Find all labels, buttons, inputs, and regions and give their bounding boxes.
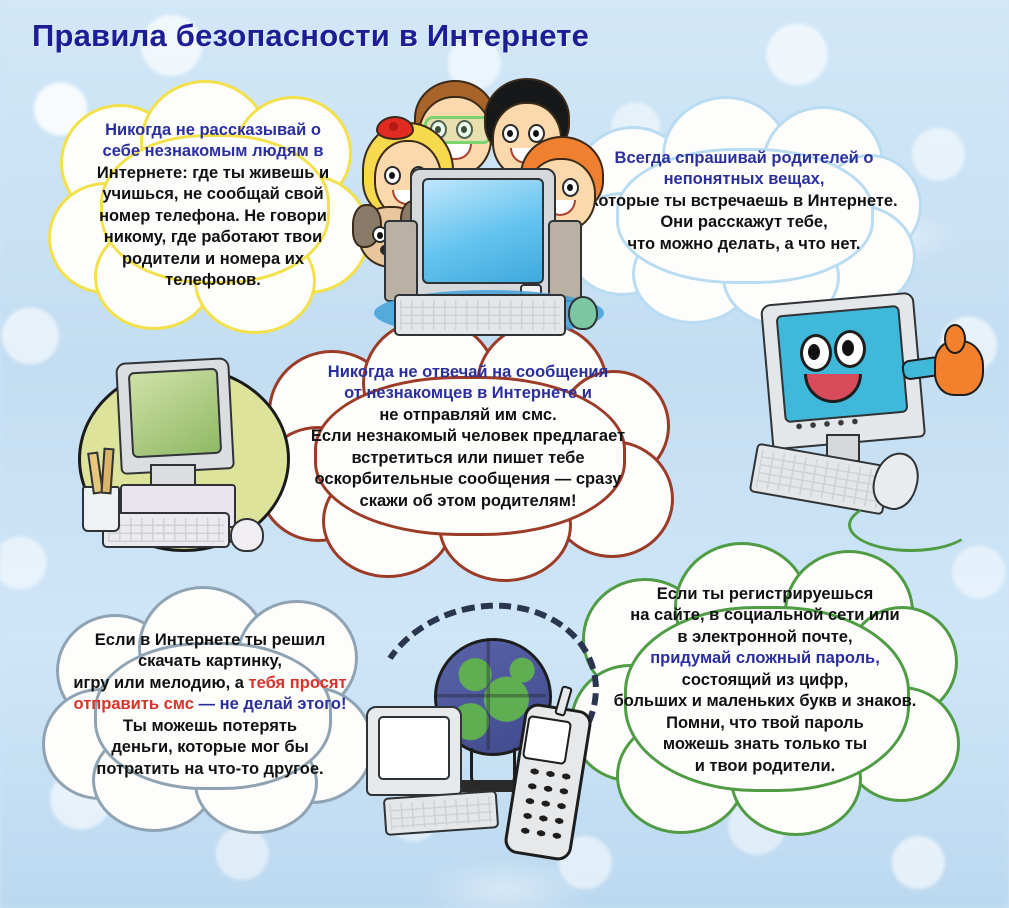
cloud-1-line-8: телефонов.: [165, 271, 261, 289]
cloud-4-line-2: скачать картинку,: [138, 652, 282, 670]
cloud-2-text: Всегда спрашивай родителей о непонятных …: [576, 148, 912, 255]
cloud-5-line-6: больших и маленьких букв и знаков.: [614, 692, 917, 710]
speaker-left-icon: [384, 220, 418, 302]
cloud-2-line-5: что можно делать, а что нет.: [628, 235, 861, 253]
cloud-4-line-5: Ты можешь потерять: [123, 717, 297, 735]
cloud-3-line-1: Никогда не отвечай на сообщения: [328, 363, 608, 381]
cloud-4-text: Если в Интернете ты решил скачать картин…: [52, 630, 368, 780]
cloud-2-line-3: которые ты встречаешь в Интернете.: [590, 192, 897, 210]
green-ground-line: [848, 498, 974, 552]
sketch-keyboard-icon: [102, 512, 230, 548]
cloud-1-line-2: себе незнакомым людям в: [103, 142, 324, 160]
cloud-5-text: Если ты регистрируешься на сайте, в соци…: [582, 584, 948, 777]
character-eye-left-pupil: [808, 344, 820, 360]
cloud-4-line-6: деньги, которые мог бы: [111, 738, 308, 756]
cloud-3-line-6: оскорбительные сообщения — сразу: [315, 470, 622, 488]
mouse-icon: [568, 296, 598, 330]
phone-screen: [522, 715, 572, 765]
globe-scene-keyboard-icon: [383, 790, 499, 836]
sketch-mouse-icon: [230, 518, 264, 552]
cloud-5-line-9: и твои родители.: [695, 757, 836, 775]
cloud-4-line-4-blue: — не делай этого!: [194, 695, 347, 713]
cloud-2-line-2: непонятных вещах,: [664, 170, 825, 188]
cloud-3-line-5: встретиться или пишет тебе: [351, 449, 584, 467]
cloud-5-line-4: придумай сложный пароль,: [650, 649, 880, 667]
monitor-screen: [422, 178, 544, 284]
cloud-3-line-3: не отправляй им смс.: [379, 406, 556, 424]
cloud-callout-1: Никогда не рассказывай о себе незнакомым…: [48, 78, 378, 340]
cloud-1-line-1: Никогда не рассказывай о: [105, 121, 321, 139]
cloud-3-text: Никогда не отвечай на сообщения от незна…: [272, 362, 664, 512]
cloud-1-line-5: номер телефона. Не говори: [99, 207, 327, 225]
kids-at-computer-illustration: [352, 78, 614, 336]
globe-computer-phone-illustration: [362, 600, 614, 872]
keyboard-icon: [394, 294, 566, 336]
cloud-3-line-2: от незнакомцев в Интернете и: [344, 384, 592, 402]
cloud-1-line-3: Интернете: где ты живешь и: [97, 164, 329, 182]
poster-canvas: Правила безопасности в Интернете Никогда…: [0, 0, 1009, 908]
sketch-monitor-screen: [128, 368, 222, 459]
page-title: Правила безопасности в Интернете: [32, 18, 589, 54]
thumb-icon: [944, 324, 966, 354]
cloud-3-line-4: Если незнакомый человек предлагает: [311, 427, 625, 445]
cloud-5-line-8: можешь знать только ты: [663, 735, 867, 753]
cloud-1-line-6: никому, где работают твои: [104, 228, 323, 246]
cloud-4-line-3-red: тебя просят: [249, 674, 347, 692]
cloud-1-line-4: учишься, не сообщай свой: [102, 185, 323, 203]
cloud-5-line-5: состоящий из цифр,: [682, 671, 849, 689]
cloud-5-line-7: Помни, что твой пароль: [666, 714, 864, 732]
speaker-right-icon: [548, 220, 582, 302]
cloud-2-line-1: Всегда спрашивай родителей о: [615, 149, 874, 167]
cloud-1-line-7: родители и номера их: [122, 250, 304, 268]
cloud-5-line-3: в электронной почте,: [677, 628, 852, 646]
red-bow-knot-icon: [389, 122, 398, 131]
cloud-3-line-7: скажи об этом родителям!: [360, 492, 577, 510]
cloud-5-line-1: Если ты регистрируешься: [657, 585, 874, 603]
cloud-4-line-3: игру или мелодию, а: [73, 674, 248, 692]
cloud-5-line-2: на сайте, в социальной сети или: [630, 606, 899, 624]
character-eye-right-pupil: [842, 340, 854, 356]
cloud-4-line-4-red: отправить смс: [74, 695, 194, 713]
cloud-2-line-4: Они расскажут тебе,: [660, 213, 827, 231]
cloud-4-line-1: Если в Интернете ты решил: [95, 631, 325, 649]
cloud-callout-5: Если ты регистрируешься на сайте, в соци…: [570, 540, 960, 838]
cloud-callout-4: Если в Интернете ты решил скачать картин…: [42, 586, 378, 836]
desktop-computer-sketch-illustration: [78, 352, 314, 578]
smiling-computer-character-illustration: [752, 292, 998, 554]
cloud-1-text: Никогда не рассказывай о себе незнакомым…: [60, 120, 366, 292]
cloud-4-line-7: потратить на что-то другое.: [96, 760, 323, 778]
globe-scene-monitor-screen: [378, 716, 450, 780]
